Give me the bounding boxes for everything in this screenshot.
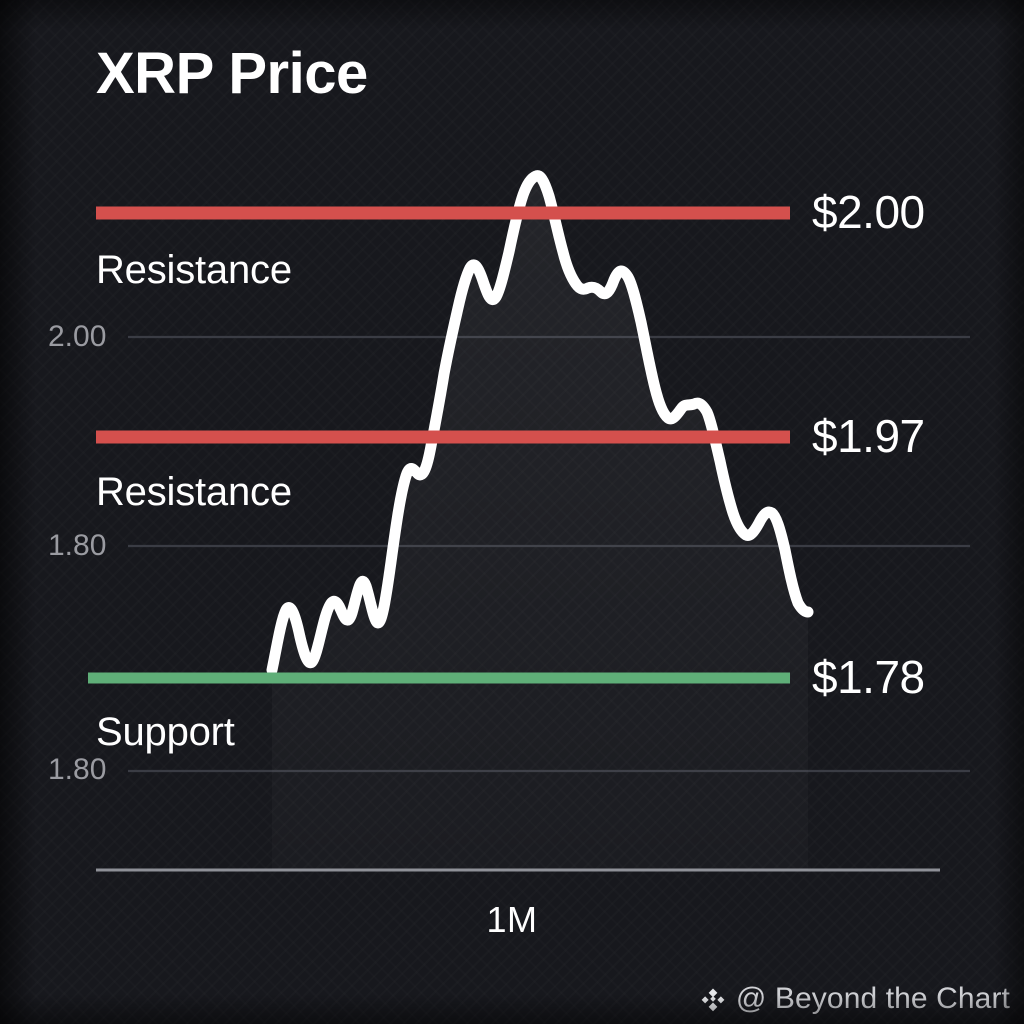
x-axis-label: 1M (0, 899, 1024, 941)
support-value-178: $1.78 (812, 650, 925, 704)
y-tick-label-2: 1.80 (48, 529, 106, 563)
y-tick-label-3: 1.80 (48, 753, 106, 787)
y-tick-label-1: 2.00 (48, 320, 106, 354)
price-area-fill (272, 176, 808, 870)
chart-canvas: XRP Price 2.00 1.80 1.80 Resistance $2.0… (0, 0, 1024, 1024)
resistance-label-197: Resistance (96, 470, 292, 515)
resistance-label-200: Resistance (96, 248, 292, 293)
watermark: @ Beyond the Chart (699, 982, 1010, 1016)
support-label-178: Support (96, 710, 235, 755)
resistance-value-197: $1.97 (812, 409, 925, 463)
binance-diamond-icon (699, 985, 727, 1013)
watermark-handle: @ Beyond the Chart (736, 982, 1010, 1016)
resistance-value-200: $2.00 (812, 185, 925, 239)
